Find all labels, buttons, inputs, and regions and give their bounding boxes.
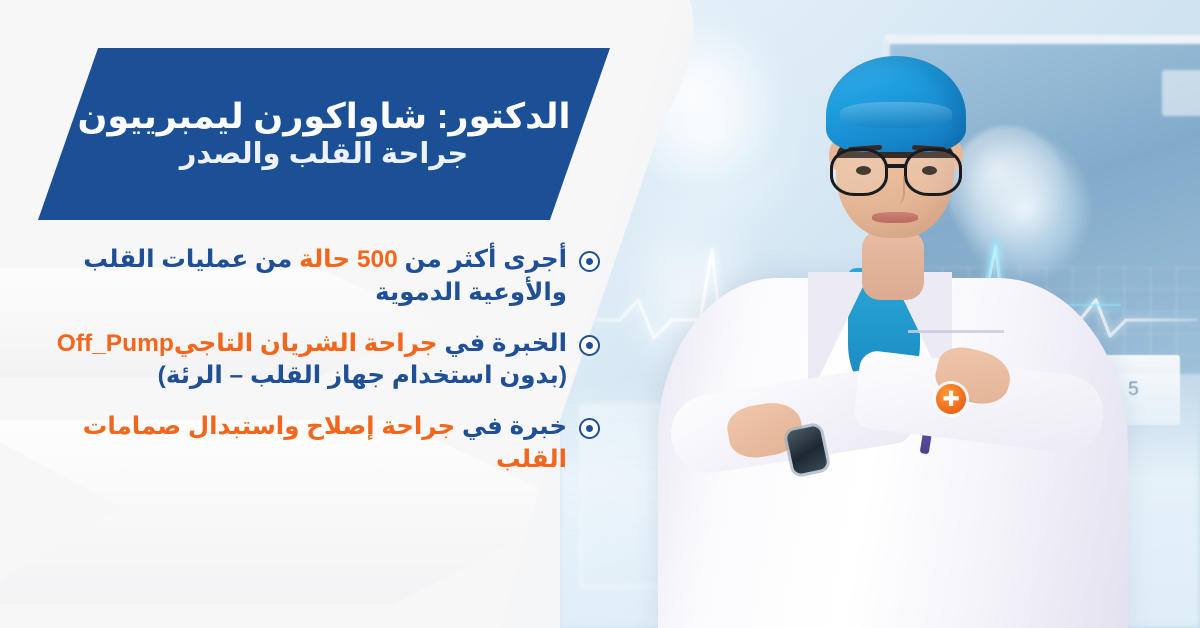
doctor-specialty: جراحة القلب والصدر xyxy=(180,138,469,171)
doctor-portrait: ✚ xyxy=(640,0,1160,628)
text-segment: Off_Pump xyxy=(50,330,174,357)
text-segment: 500 حالة xyxy=(299,246,398,273)
list-item: أجرى أكثر من 500 حالة من عمليات القلب وا… xyxy=(40,244,600,310)
title-banner: الدكتور: شاواكورن ليمبرييون جراحة القلب … xyxy=(38,48,610,220)
monitor-readout-box xyxy=(1162,70,1200,116)
text-segment: الخبرة في xyxy=(438,330,567,357)
radio-bullet-icon xyxy=(579,418,600,439)
text-segment: خبرة في xyxy=(455,413,567,440)
text-segment: جراحة الشريان التاجي xyxy=(174,330,438,357)
credentials-list: أجرى أكثر من 500 حالة من عمليات القلب وا… xyxy=(40,244,600,477)
credential-text-1: أجرى أكثر من 500 حالة من عمليات القلب وا… xyxy=(40,244,567,310)
credential-text-3: خبرة في جراحة إصلاح واستبدال صمامات القل… xyxy=(40,411,567,477)
list-item: الخبرة في جراحة الشريان التاجي Off_Pump … xyxy=(40,328,600,394)
glasses-lens-left xyxy=(830,148,888,196)
glasses-lens-right xyxy=(904,148,962,196)
doctor-profile-banner: 5 148 5 xyxy=(0,0,1200,628)
medical-cross-icon: ✚ xyxy=(936,384,966,414)
list-item: خبرة في جراحة إصلاح واستبدال صمامات القل… xyxy=(40,411,600,477)
surgical-cap xyxy=(826,56,966,152)
nose xyxy=(887,176,905,204)
neck xyxy=(862,230,924,300)
text-segment: (بدون استخدام جهاز القلب – الرئة) xyxy=(158,362,567,389)
credential-text-2: الخبرة في جراحة الشريان التاجي Off_Pump … xyxy=(40,328,567,394)
mouth xyxy=(872,212,918,223)
badge-glyph: ✚ xyxy=(942,389,960,410)
text-segment: أجرى أكثر من xyxy=(398,246,567,273)
radio-bullet-icon xyxy=(579,251,600,272)
doctor-name: الدكتور: شاواكورن ليمبرييون xyxy=(77,97,570,136)
glasses-bridge xyxy=(886,164,906,168)
radio-bullet-icon xyxy=(579,335,600,356)
